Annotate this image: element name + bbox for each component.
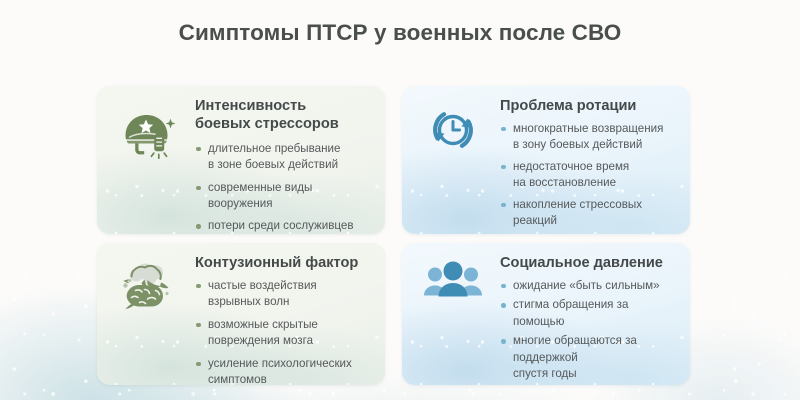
bullet-item: современные видывооружения bbox=[195, 180, 373, 213]
card-concussion-factor[interactable]: Контузионный фактор частые воздействиявз… bbox=[97, 243, 385, 385]
card-content: Контузионный фактор частые воздействиявз… bbox=[195, 253, 373, 385]
card-content: Интенсивность боевых стрессоров длительн… bbox=[195, 96, 373, 234]
bullet-item: накопление стрессовых реакций bbox=[500, 197, 678, 230]
card-rotation-problem[interactable]: Проблема ротации многократные возвращени… bbox=[402, 86, 690, 234]
bullet-item: стигма обращения за помощью bbox=[500, 297, 678, 330]
card-title: Социальное давление bbox=[500, 255, 678, 273]
bullet-item: потери среди сослуживцев bbox=[195, 218, 373, 234]
bullet-item: недостаточное времяна восстановление bbox=[500, 159, 678, 192]
card-bullet-list: ожидание «быть сильным» стигма обращения… bbox=[500, 278, 678, 383]
military-helmet-icon bbox=[109, 96, 187, 164]
clock-rotation-icon bbox=[414, 96, 492, 158]
page-title: Симптомы ПТСР у военных после СВО bbox=[0, 20, 800, 46]
slide-canvas: Симптомы ПТСР у военных после СВО bbox=[0, 0, 800, 400]
bullet-item: ожидание «быть сильным» bbox=[500, 278, 678, 294]
card-bullet-list: длительное пребываниев зоне боевых дейст… bbox=[195, 141, 373, 234]
bullet-item: усиление психологическихсимптомов bbox=[195, 356, 373, 385]
card-bullet-list: частые воздействиявзрывных волн возможны… bbox=[195, 278, 373, 385]
bullet-item: возможные скрытыеповреждения мозга bbox=[195, 317, 373, 350]
bullet-item: многие обращаются за поддержкойспустя го… bbox=[500, 333, 678, 382]
card-combat-stressors[interactable]: Интенсивность боевых стрессоров длительн… bbox=[97, 86, 385, 234]
people-group-icon bbox=[414, 253, 492, 305]
card-content: Проблема ротации многократные возвращени… bbox=[500, 96, 678, 234]
card-content: Социальное давление ожидание «быть сильн… bbox=[500, 253, 678, 385]
card-grid: Интенсивность боевых стрессоров длительн… bbox=[97, 86, 697, 385]
bullet-item: частые воздействиявзрывных волн bbox=[195, 278, 373, 311]
bullet-item: многократные возвращенияв зону боевых де… bbox=[500, 121, 678, 154]
card-social-pressure[interactable]: Социальное давление ожидание «быть сильн… bbox=[402, 243, 690, 385]
card-title: Интенсивность боевых стрессоров bbox=[195, 98, 373, 134]
brain-blast-icon bbox=[109, 253, 187, 317]
card-title: Проблема ротации bbox=[500, 98, 678, 116]
card-bullet-list: многократные возвращенияв зону боевых де… bbox=[500, 121, 678, 230]
bullet-item: длительное пребываниев зоне боевых дейст… bbox=[195, 141, 373, 174]
card-title: Контузионный фактор bbox=[195, 255, 373, 273]
